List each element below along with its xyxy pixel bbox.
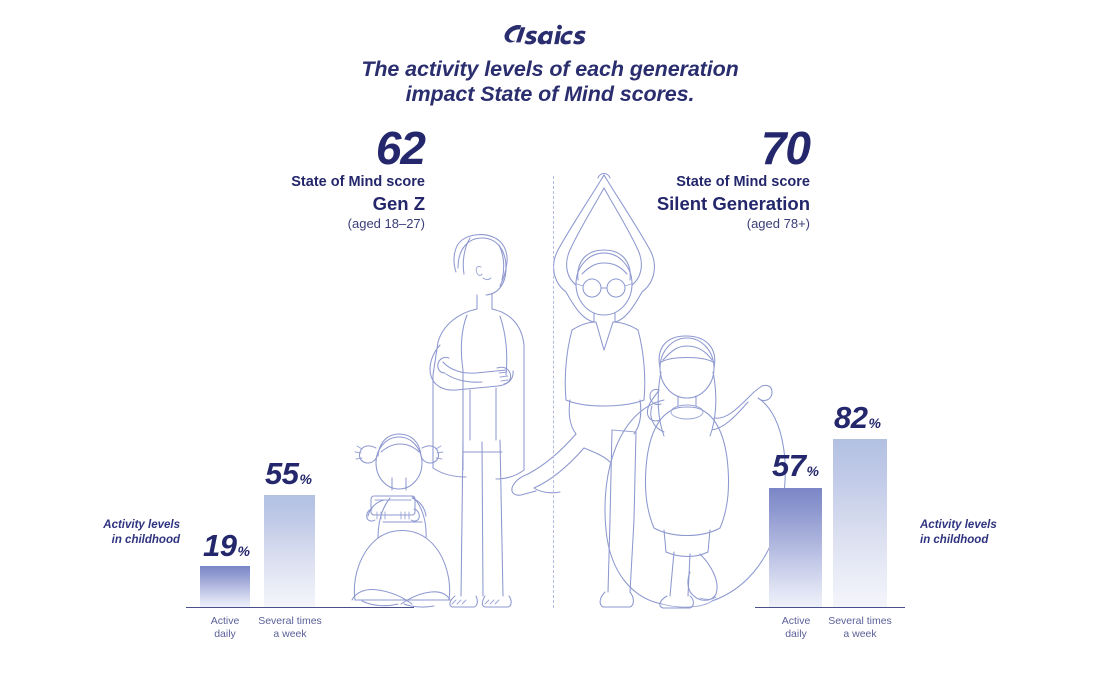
activity-levels-caption-left: Activity levels in childhood — [60, 518, 180, 547]
generation-name-gen-z: Gen Z — [120, 192, 425, 215]
score-label-silent-generation: State of Mind score — [560, 173, 810, 191]
bar-value-percent: % — [806, 463, 818, 479]
caption-right-line-2: in childhood — [920, 533, 1050, 548]
child-seated-with-tablet-figure — [352, 434, 450, 607]
infographic-page: The activity levels of each generation i… — [0, 0, 1100, 688]
tick-line-1: Several times — [819, 615, 901, 628]
bar-value-number: 19 — [203, 528, 236, 563]
center-divider — [553, 176, 554, 608]
bar-value-percent: % — [299, 471, 311, 487]
bar-value-percent: % — [868, 415, 880, 431]
bar-value-silent-generation-several-times-a-week: 82% — [834, 402, 881, 433]
state-of-mind-score-silent-generation: 70 — [560, 124, 810, 172]
caption-right-line-1: Activity levels — [920, 518, 1050, 533]
bar-silent-generation-several-times-a-week — [833, 439, 887, 607]
bar-value-silent-generation-active-daily: 57% — [772, 450, 819, 481]
asics-wordmark-icon — [504, 22, 596, 48]
caption-left-line-1: Activity levels — [60, 518, 180, 533]
generation-block-gen-z: 62 State of Mind score Gen Z (aged 18–27… — [120, 124, 425, 232]
older-woman-yoga-tree-pose-figure — [512, 174, 655, 608]
bar-value-number: 55 — [265, 456, 298, 491]
tick-line-1: Several times — [249, 615, 331, 628]
generation-age-gen-z: (aged 18–27) — [120, 215, 425, 232]
headline-line-1: The activity levels of each generation — [0, 57, 1100, 82]
bar-value-number: 57 — [772, 448, 805, 483]
score-label-gen-z: State of Mind score — [120, 173, 425, 191]
activity-levels-caption-right: Activity levels in childhood — [920, 518, 1050, 547]
chart-baseline-left — [186, 607, 414, 608]
bar-value-number: 82 — [834, 400, 867, 435]
asics-logo — [0, 22, 1100, 52]
headline-line-2: impact State of Mind scores. — [0, 82, 1100, 107]
page-title: The activity levels of each generation i… — [0, 57, 1100, 107]
caption-left-line-2: in childhood — [60, 533, 180, 548]
tick-line-2: a week — [249, 628, 331, 641]
teen-standing-arms-crossed-figure — [430, 235, 524, 607]
tick-line-2: a week — [819, 628, 901, 641]
state-of-mind-score-gen-z: 62 — [120, 124, 425, 172]
generation-name-silent-generation: Silent Generation — [560, 192, 810, 215]
bar-silent-generation-active-daily — [769, 488, 822, 607]
chart-baseline-right — [755, 607, 905, 608]
bar-tick-silent-generation-several-times-a-week: Several times a week — [819, 615, 901, 641]
generation-block-silent-generation: 70 State of Mind score Silent Generation… — [560, 124, 810, 232]
bar-tick-gen-z-several-times-a-week: Several times a week — [249, 615, 331, 641]
bar-value-percent: % — [237, 543, 249, 559]
generation-age-silent-generation: (aged 78+) — [560, 215, 810, 232]
bar-gen-z-several-times-a-week — [264, 495, 315, 607]
girl-with-jump-rope-figure — [605, 336, 785, 608]
bar-value-gen-z-active-daily: 19% — [203, 530, 250, 561]
bar-gen-z-active-daily — [200, 566, 250, 607]
bar-value-gen-z-several-times-a-week: 55% — [265, 458, 312, 489]
